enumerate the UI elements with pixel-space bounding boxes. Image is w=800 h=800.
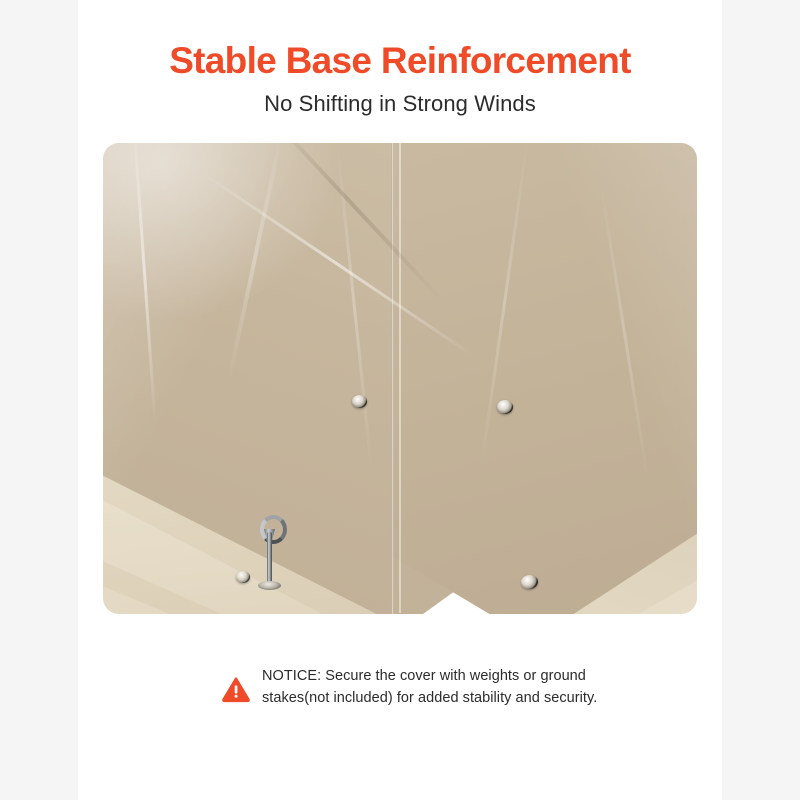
notice-text: NOTICE: Secure the cover with weights or… (262, 666, 622, 710)
tarp-panel-right (391, 143, 697, 614)
product-photo: 9.84 inch / 25 cm (103, 143, 697, 614)
tarp-center-seam-highlight (399, 143, 401, 613)
metal-grommet (236, 571, 250, 583)
metal-grommet (352, 395, 367, 408)
tarp-center-seam (391, 143, 394, 614)
stake-shaft (267, 532, 272, 584)
page-subtitle: No Shifting in Strong Winds (78, 91, 722, 117)
stake-washer (258, 581, 281, 590)
notice-block: NOTICE: Secure the cover with weights or… (222, 666, 622, 710)
warning-triangle-icon (222, 675, 250, 703)
fabric-highlight (103, 143, 343, 323)
page-title: Stable Base Reinforcement (78, 42, 722, 81)
metal-grommet (497, 400, 513, 414)
ground-stake-eye-bolt (253, 515, 287, 593)
content-card: Stable Base Reinforcement No Shifting in… (78, 0, 722, 800)
